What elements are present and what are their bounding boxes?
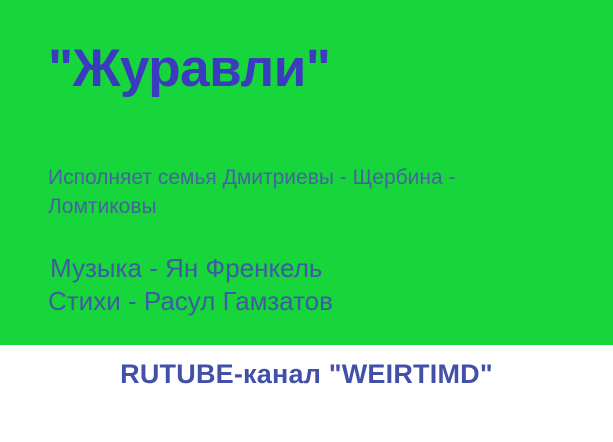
title-slide: "Журавли" Исполняет семья Дмитриевы - Ще… — [0, 0, 613, 442]
stage-content: "Журавли" Исполняет семья Дмитриевы - Ще… — [48, 0, 568, 345]
green-stage-panel: "Журавли" Исполняет семья Дмитриевы - Ще… — [0, 0, 613, 345]
credit-music: Музыка - Ян Френкель — [48, 252, 508, 285]
credits-block: Музыка - Ян Френкель Стихи - Расул Гамза… — [48, 252, 508, 319]
footer-banner: RUTUBE-канал "WEIRTIMD" — [0, 345, 613, 442]
performers-line: Исполняет семья Дмитриевы - Щербина - Ло… — [48, 164, 540, 222]
credit-lyrics: Стихи - Расул Гамзатов — [48, 285, 508, 318]
rutube-channel-label: RUTUBE-канал "WEIRTIMD" — [0, 358, 613, 390]
song-title: "Журавли" — [48, 40, 330, 97]
